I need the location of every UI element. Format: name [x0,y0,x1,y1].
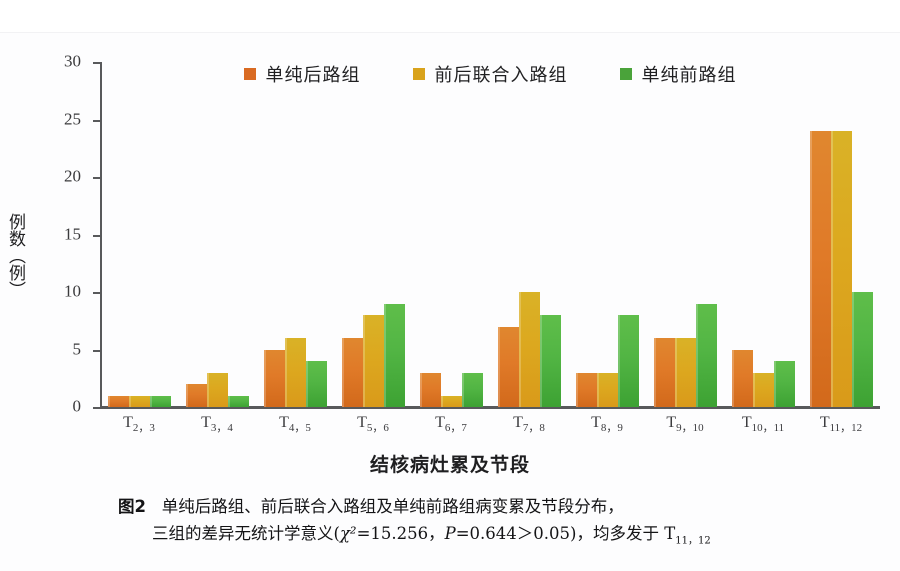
chi-square-symbol: χ² [340,524,357,543]
x-tick-label-10: T11，12 [802,414,880,444]
x-axis-tick-labels: T2，3T3，4T4，5T5，6T6，7T7，8T8，9T9，10T10，11T… [100,414,880,444]
caption-line-1: 图2 单纯后路组、前后联合入路组及单纯前路组病变累及节段分布， [118,494,840,521]
x-tick-label-8: T9，10 [646,414,724,444]
bar-group-T3-4 [178,62,256,407]
plot-area: 051015202530 [100,62,880,407]
bar-T3-4-series2[interactable] [207,373,228,408]
bar-group-T6-7 [412,62,490,407]
caption-line-2: 三组的差异无统计学意义(χ²=15.256，P=0.644＞0.05)，均多发于… [118,521,840,549]
bar-group-T4-5 [256,62,334,407]
y-tick-label-10: 10 [64,282,81,302]
y-tick-label-30: 30 [64,52,81,72]
bar-T4-5-series2[interactable] [285,338,306,407]
bar-T7-8-series1[interactable] [498,327,519,408]
bar-group-T11-12 [802,62,880,407]
bar-T7-8-series2[interactable] [519,292,540,407]
bar-groups [100,62,880,407]
y-tick-30: 30 [93,62,100,64]
x-axis-title: 结核病灶累及节段 [0,450,900,477]
bar-group-T10-11 [724,62,802,407]
bar-T2-3-series3[interactable] [150,396,171,408]
bar-T10-11-series3[interactable] [774,361,795,407]
caption-text-1: 单纯后路组、前后联合入路组及单纯前路组病变累及节段分布， [162,497,624,516]
y-axis-title: 例数（例） [2,213,28,298]
bar-group-T9-10 [646,62,724,407]
y-tick-25: 25 [93,120,100,122]
figure-number: 图2 [118,497,146,516]
bar-T10-11-series2[interactable] [753,373,774,408]
caption-text-2c: =0.644＞0.05)，均多发于 T [456,524,676,543]
x-tick-label-4: T5，6 [334,414,412,444]
bar-T5-6-series1[interactable] [342,338,363,407]
y-tick-label-0: 0 [73,397,82,417]
caption-subscript: 11，12 [675,535,710,546]
figure-container: 例数（例） 单纯后路组前后联合入路组单纯前路组 051015202530 T2，… [0,0,900,571]
caption-text-2a: 三组的差异无统计学意义( [152,524,340,543]
bar-T11-12-series3[interactable] [852,292,873,407]
bar-T6-7-series3[interactable] [462,373,483,408]
x-tick-label-2: T3，4 [178,414,256,444]
x-tick-label-7: T8，9 [568,414,646,444]
bar-group-T2-3 [100,62,178,407]
bar-T10-11-series1[interactable] [732,350,753,408]
x-tick-label-9: T10，11 [724,414,802,444]
plot-wrapper: 例数（例） 单纯后路组前后联合入路组单纯前路组 051015202530 T2，… [0,33,900,453]
bar-T6-7-series2[interactable] [441,396,462,408]
bar-T4-5-series1[interactable] [264,350,285,408]
y-tick-15: 15 [93,235,100,237]
y-tick-label-25: 25 [64,109,81,129]
bar-T5-6-series3[interactable] [384,304,405,408]
x-tick-label-6: T7，8 [490,414,568,444]
bar-T8-9-series1[interactable] [576,373,597,408]
y-tick-label-15: 15 [64,224,81,244]
bar-T2-3-series1[interactable] [108,396,129,408]
caption-text-2b: =15.256， [357,524,445,543]
bar-T6-7-series1[interactable] [420,373,441,408]
y-tick-label-20: 20 [64,167,81,187]
bar-T11-12-series1[interactable] [810,131,831,407]
bar-T11-12-series2[interactable] [831,131,852,407]
bar-group-T8-9 [568,62,646,407]
bar-group-T5-6 [334,62,412,407]
figure-caption: 图2 单纯后路组、前后联合入路组及单纯前路组病变累及节段分布， 三组的差异无统计… [118,494,840,549]
y-tick-10: 10 [93,292,100,294]
bar-T9-10-series2[interactable] [675,338,696,407]
bar-T3-4-series1[interactable] [186,384,207,407]
bar-T7-8-series3[interactable] [540,315,561,407]
y-tick-label-5: 5 [73,339,82,359]
y-tick-20: 20 [93,177,100,179]
y-tick-5: 5 [93,350,100,352]
bar-T5-6-series2[interactable] [363,315,384,407]
p-value-symbol: P [445,524,456,543]
bar-T4-5-series3[interactable] [306,361,327,407]
bar-T8-9-series3[interactable] [618,315,639,407]
bar-T8-9-series2[interactable] [597,373,618,408]
x-tick-label-3: T4，5 [256,414,334,444]
bar-T2-3-series2[interactable] [129,396,150,408]
y-tick-0: 0 [93,407,100,409]
x-tick-label-1: T2，3 [100,414,178,444]
bar-group-T7-8 [490,62,568,407]
bar-T9-10-series1[interactable] [654,338,675,407]
bar-T9-10-series3[interactable] [696,304,717,408]
bar-T3-4-series3[interactable] [228,396,249,408]
x-tick-label-5: T6，7 [412,414,490,444]
